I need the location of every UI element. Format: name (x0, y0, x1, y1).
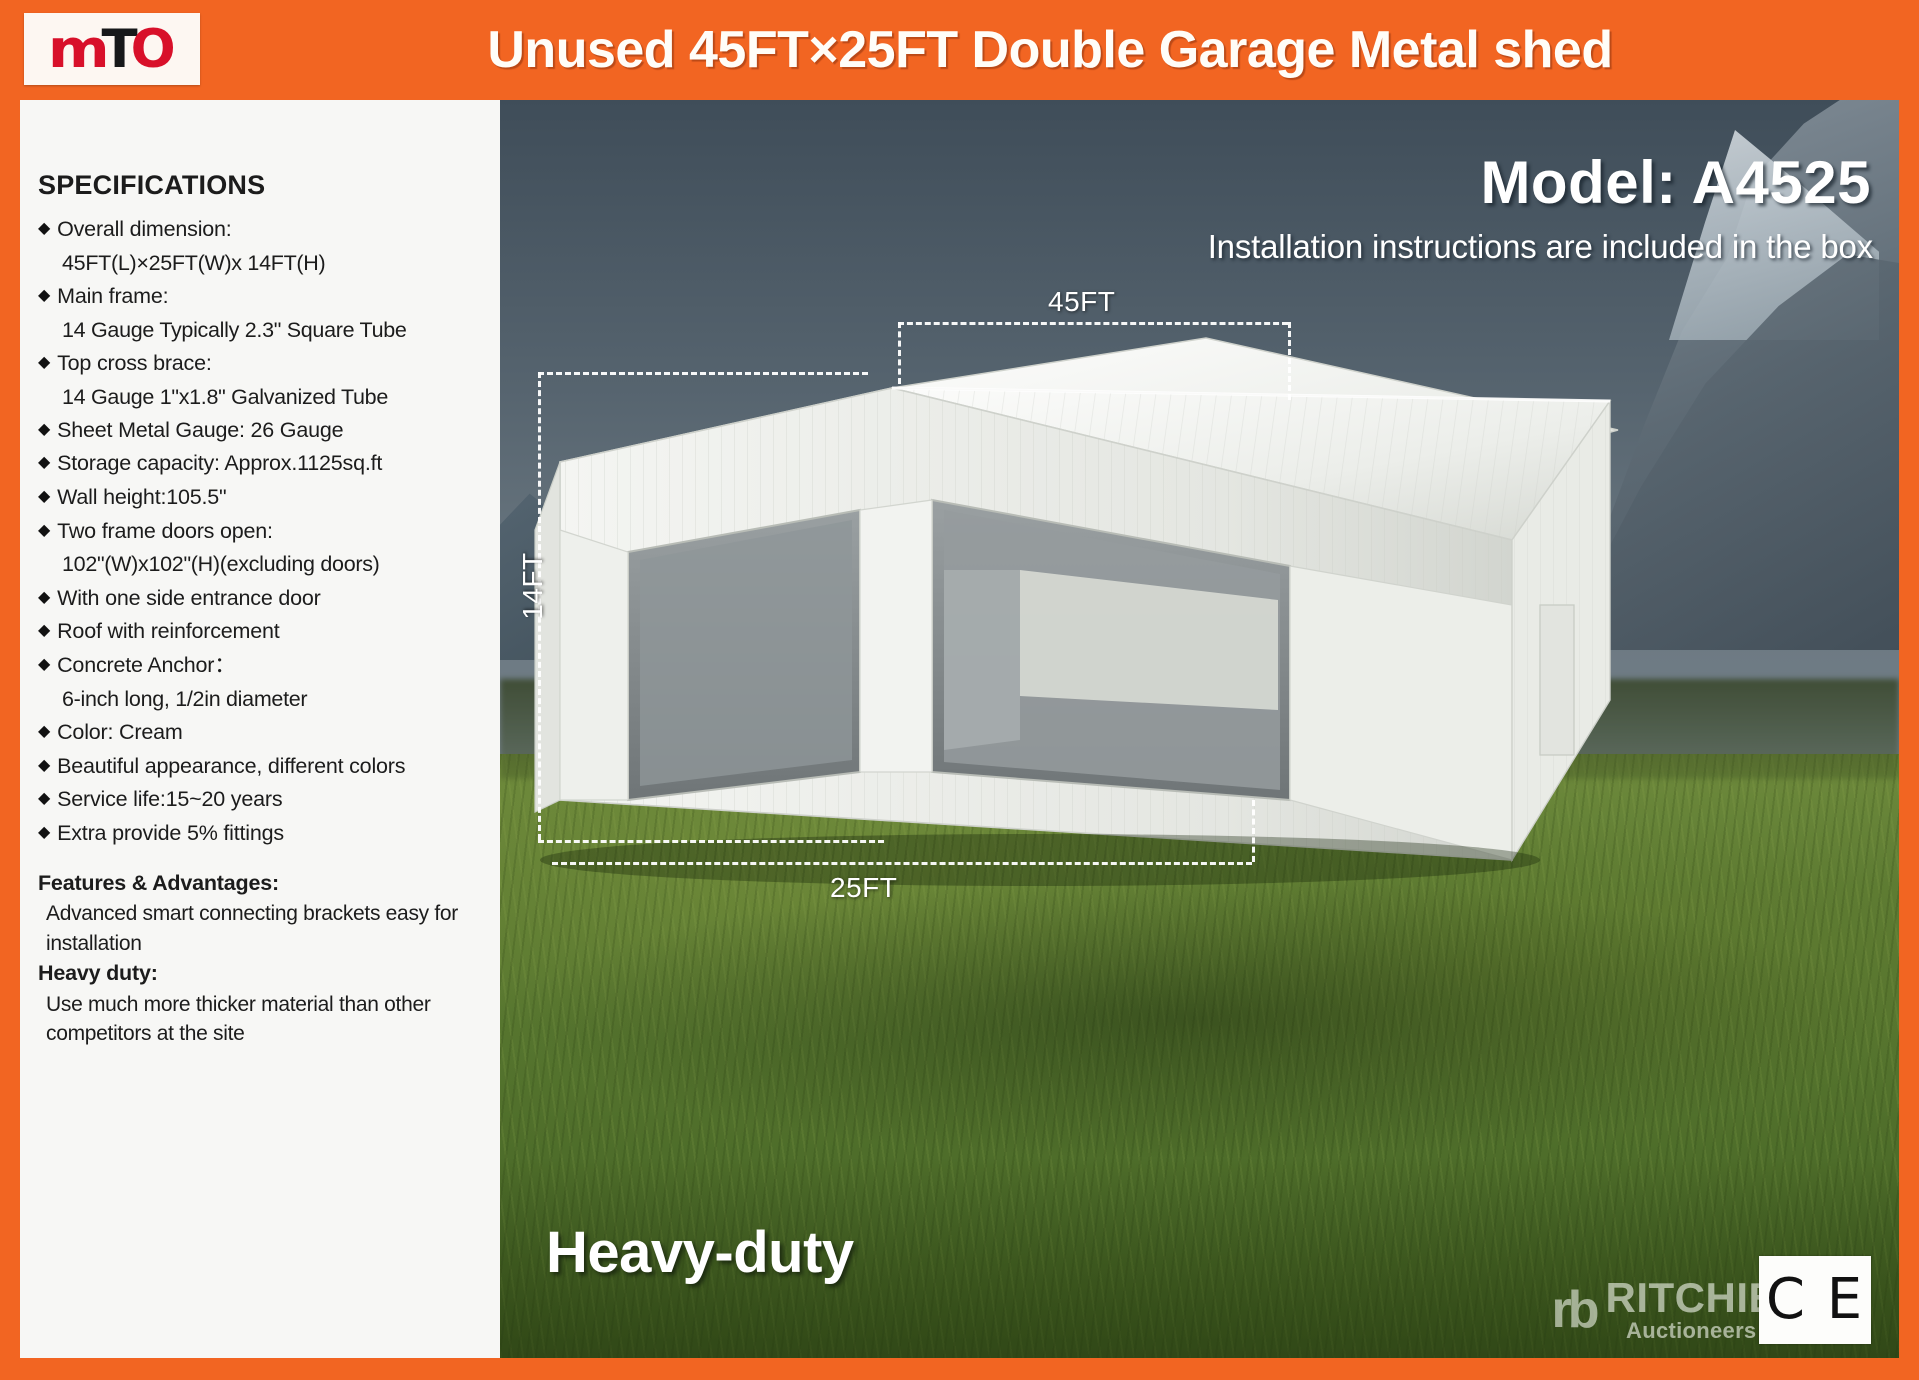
spec-label: Service life:15~20 years (57, 783, 282, 816)
door-interior-left (640, 520, 852, 786)
spec-detail: 6-inch long, 1/2in diameter (38, 683, 486, 715)
spec-row: ◆ Extra provide 5% fittings (38, 817, 486, 850)
spec-row: ◆ Wall height:105.5" (38, 481, 486, 514)
spec-detail: 102"(W)x102"(H)(excluding doors) (38, 548, 486, 580)
diamond-bullet-icon: ◆ (38, 783, 50, 814)
spec-label: Beautiful appearance, different colors (57, 750, 405, 783)
dimension-tick-height-top (538, 372, 868, 375)
brand-logo: m T O (24, 13, 200, 85)
spec-label: Roof with reinforcement (57, 615, 279, 648)
diamond-bullet-icon: ◆ (38, 582, 50, 613)
spec-label: With one side entrance door (57, 582, 321, 615)
diamond-bullet-icon: ◆ (38, 447, 50, 478)
dimension-tick-length-left (898, 322, 901, 384)
dimension-label-width: 25FT (830, 872, 897, 904)
spec-row: ◆ Beautiful appearance, different colors (38, 750, 486, 783)
dimension-label-height: 14FT (517, 541, 549, 631)
spec-row: ◆ Overall dimension: (38, 213, 486, 246)
spec-detail: 45FT(L)×25FT(W)x 14FT(H) (38, 247, 486, 279)
metal-shed-illustration (500, 100, 1899, 1358)
spec-label: Concrete Anchor： (57, 649, 235, 682)
dimension-tick-height-bottom (538, 840, 884, 843)
features-body: Advanced smart connecting brackets easy … (38, 899, 486, 959)
features-section: Features & Advantages: Advanced smart co… (38, 868, 486, 1050)
spec-detail: 14 Gauge Typically 2.3" Square Tube (38, 314, 486, 346)
ce-mark: C E (1759, 1256, 1871, 1344)
heavy-duty-body: Use much more thicker material than othe… (38, 990, 486, 1050)
tagline: Heavy-duty (546, 1219, 854, 1286)
spec-detail: 14 Gauge 1"x1.8" Galvanized Tube (38, 381, 486, 413)
model-number: Model: A4525 (1480, 148, 1871, 217)
product-photo: 45FT 14FT 25FT Model: A4525 Installation… (500, 100, 1899, 1358)
diamond-bullet-icon: ◆ (38, 649, 50, 680)
features-heading: Features & Advantages: (38, 868, 486, 899)
side-entrance-door (1540, 605, 1574, 755)
diamond-bullet-icon: ◆ (38, 213, 50, 244)
brand-logo-text: m T O (51, 23, 172, 76)
dimension-label-length: 45FT (1048, 286, 1115, 318)
specifications-heading: SPECIFICATIONS (38, 170, 486, 201)
diamond-bullet-icon: ◆ (38, 750, 50, 781)
spec-label: Sheet Metal Gauge: 26 Gauge (57, 414, 343, 447)
diamond-bullet-icon: ◆ (38, 481, 50, 512)
spec-label: Color: Cream (57, 716, 182, 749)
diamond-bullet-icon: ◆ (38, 716, 50, 747)
spec-label: Top cross brace: (57, 347, 212, 380)
installation-note: Installation instructions are included i… (1208, 228, 1873, 266)
spec-label: Storage capacity: Approx.1125sq.ft (57, 447, 382, 480)
spec-row: ◆ With one side entrance door (38, 582, 486, 615)
heavy-duty-heading: Heavy duty: (38, 958, 486, 989)
dimension-tick-width-right (1252, 800, 1255, 862)
spec-row: ◆ Service life:15~20 years (38, 783, 486, 816)
specifications-list: ◆ Overall dimension: 45FT(L)×25FT(W)x 14… (38, 213, 486, 850)
diamond-bullet-icon: ◆ (38, 414, 50, 445)
logo-letter-o: O (131, 23, 173, 76)
interior-side-wall (944, 570, 1020, 750)
diamond-bullet-icon: ◆ (38, 817, 50, 848)
spec-label: Two frame doors open: (57, 515, 273, 548)
spec-row: ◆ Roof with reinforcement (38, 615, 486, 648)
poster-body: SPECIFICATIONS ◆ Overall dimension: 45FT… (20, 100, 1899, 1358)
spec-row: ◆ Color: Cream (38, 716, 486, 749)
spec-row: ◆ Sheet Metal Gauge: 26 Gauge (38, 414, 486, 447)
dimension-tick-length-right (1288, 322, 1291, 400)
dimension-line-length (898, 322, 1288, 325)
diamond-bullet-icon: ◆ (38, 347, 50, 378)
spec-row: ◆ Top cross brace: (38, 347, 486, 380)
spec-label: Overall dimension: (57, 213, 231, 246)
diamond-bullet-icon: ◆ (38, 280, 50, 311)
spec-row: ◆ Two frame doors open: (38, 515, 486, 548)
diamond-bullet-icon: ◆ (38, 515, 50, 546)
spec-row: ◆ Concrete Anchor： (38, 649, 486, 682)
dimension-line-width (552, 862, 1252, 865)
spec-label: Main frame: (57, 280, 168, 313)
logo-letter-m: m (48, 23, 107, 76)
specifications-panel: SPECIFICATIONS ◆ Overall dimension: 45FT… (20, 100, 500, 1358)
diamond-bullet-icon: ◆ (38, 615, 50, 646)
door-left-post (560, 530, 628, 800)
door-center-post (860, 500, 932, 772)
spec-row: ◆ Main frame: (38, 280, 486, 313)
poster-header: m T O Unused 45FT×25FT Double Garage Met… (0, 0, 1919, 100)
product-poster: m T O Unused 45FT×25FT Double Garage Met… (0, 0, 1919, 1380)
spec-row: ◆ Storage capacity: Approx.1125sq.ft (38, 447, 486, 480)
spec-label: Wall height:105.5" (57, 481, 226, 514)
ce-mark-text: C E (1766, 1272, 1864, 1328)
page-title: Unused 45FT×25FT Double Garage Metal she… (200, 0, 1900, 100)
spec-label: Extra provide 5% fittings (57, 817, 284, 850)
